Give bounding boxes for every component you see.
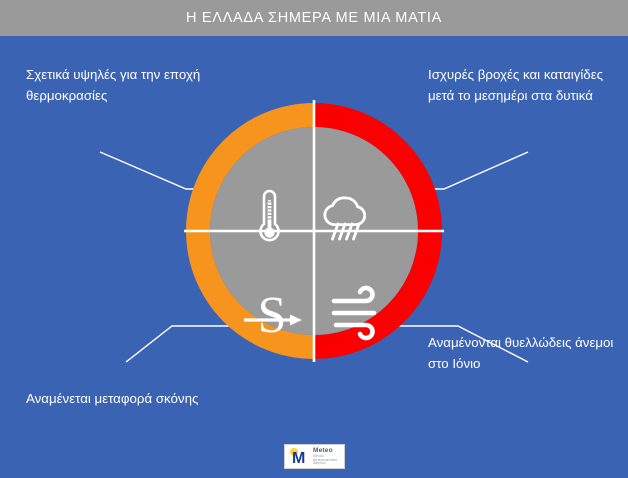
svg-text:S: S: [258, 287, 287, 344]
meteo-logo-text: Meteo Εθνικό Αστεροσκοπείο Αθηνών: [313, 448, 344, 466]
connector-bottom-left: [126, 326, 230, 362]
logo-letter-m: M: [292, 451, 305, 466]
callout-top-right: Ισχυρές βροχές και καταιγίδες μετά το με…: [428, 64, 618, 106]
meteo-logo-mark: M: [289, 448, 311, 466]
callout-bottom-right: Αναμένονται θυελλώδεις άνεμοι στο Ιόνιο: [428, 332, 618, 374]
quadrant-dividers: [184, 100, 444, 362]
page-title: Η ΕΛΛΑΔΑ ΣΗΜΕΡΑ ΜΕ ΜΙΑ ΜΑΤΙΑ: [0, 0, 628, 36]
logo-subtitle: Εθνικό Αστεροσκοπείο Αθηνών: [313, 455, 344, 465]
callout-bottom-left: Αναμένεται μεταφορά σκόνης: [26, 388, 286, 409]
header-bar: Η ΕΛΛΑΔΑ ΣΗΜΕΡΑ ΜΕ ΜΙΑ ΜΑΤΙΑ: [0, 0, 628, 36]
infographic-root: Η ΕΛΛΑΔΑ ΣΗΜΕΡΑ ΜΕ ΜΙΑ ΜΑΤΙΑ: [0, 0, 628, 478]
callout-top-left: Σχετικά υψηλές για την εποχή θερμοκρασίε…: [26, 64, 276, 106]
meteo-logo: M Meteo Εθνικό Αστεροσκοπείο Αθηνών: [284, 444, 345, 469]
diagram-stage: S Σχετικά υψηλές για την εποχή θερμοκρασ…: [0, 36, 628, 478]
